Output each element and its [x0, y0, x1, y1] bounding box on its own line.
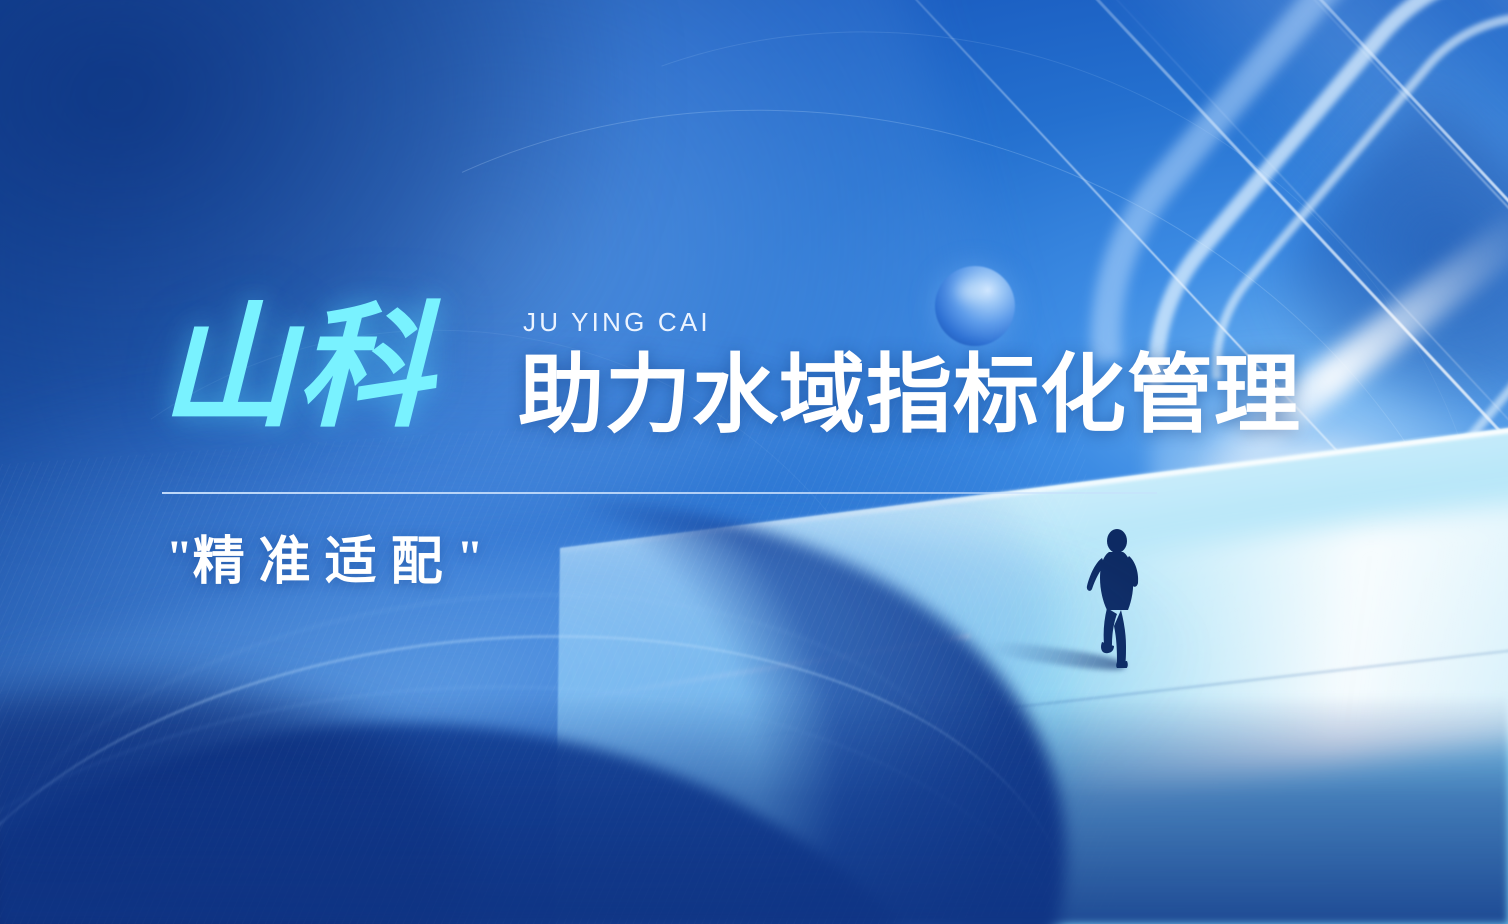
quote-open-mark: "	[166, 531, 193, 584]
brand-pinyin: JU YING CAI	[523, 307, 711, 338]
brand-logo-text: 山科	[160, 300, 434, 435]
subtitle-block: "精准适配"	[166, 536, 483, 588]
banner-content: 山科 JU YING CAI 助力水域指标化管理 "精准适配"	[0, 0, 1508, 924]
headline-text: 助力水域指标化管理	[518, 352, 1301, 438]
quote-close-mark: "	[457, 531, 484, 584]
divider-rule	[162, 492, 1157, 494]
subtitle-text: 精准适配	[193, 533, 457, 591]
promo-banner: 山科 JU YING CAI 助力水域指标化管理 "精准适配"	[0, 0, 1508, 924]
